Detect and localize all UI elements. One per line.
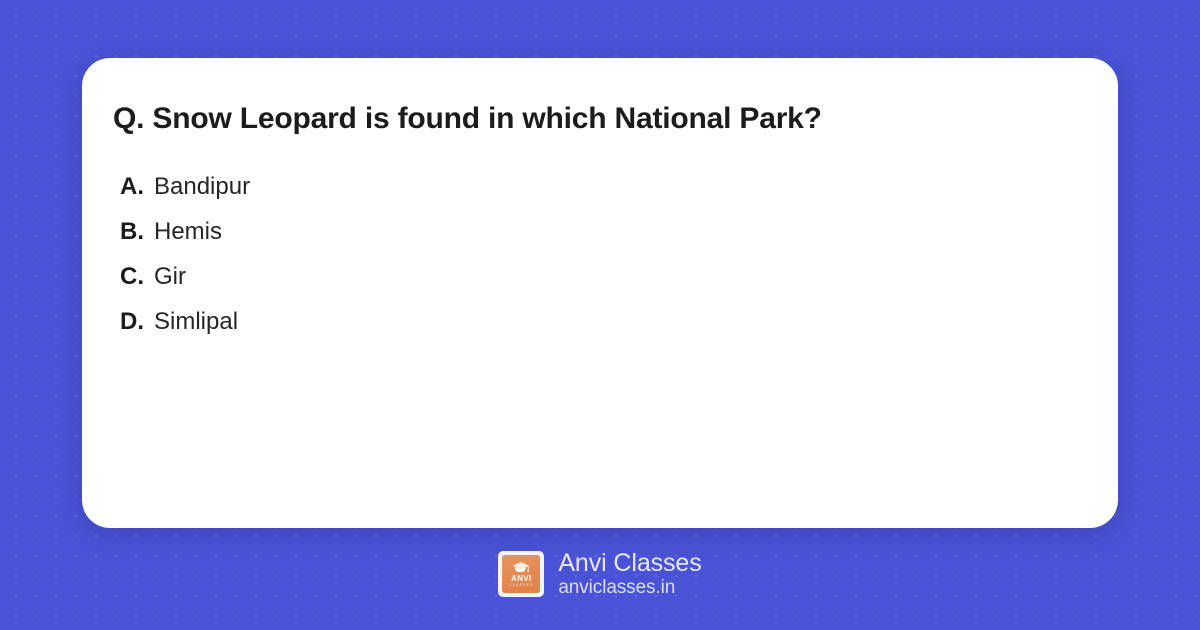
option-c-text: Gir — [154, 254, 186, 299]
option-a[interactable]: A. Bandipur — [120, 164, 1118, 209]
option-b[interactable]: B. Hemis — [120, 209, 1118, 254]
options-list: A. Bandipur B. Hemis C. Gir D. Simlipal — [82, 164, 1118, 344]
option-c[interactable]: C. Gir — [120, 254, 1118, 299]
option-d-text: Simlipal — [154, 299, 238, 344]
brand-url[interactable]: anviclasses.in — [558, 577, 701, 598]
question-text: Q. Snow Leopard is found in which Nation… — [82, 100, 1118, 138]
brand-logo-name: ANVI — [511, 575, 531, 583]
option-d[interactable]: D. Simlipal — [120, 299, 1118, 344]
brand-text-block: Anvi Classes anviclasses.in — [558, 549, 701, 598]
quiz-card: Q. Snow Leopard is found in which Nation… — [82, 58, 1118, 528]
brand-logo: ANVI CLASSES — [498, 551, 544, 597]
option-b-text: Hemis — [154, 209, 222, 254]
option-d-letter: D. — [120, 299, 154, 344]
brand-footer: ANVI CLASSES Anvi Classes anviclasses.in — [0, 545, 1200, 603]
option-b-letter: B. — [120, 209, 154, 254]
brand-title: Anvi Classes — [558, 549, 701, 577]
brand-logo-subtitle: CLASSES — [509, 584, 533, 588]
graduation-cap-icon — [512, 561, 530, 574]
option-a-letter: A. — [120, 164, 154, 209]
brand-logo-tile: ANVI CLASSES — [502, 555, 540, 593]
option-c-letter: C. — [120, 254, 154, 299]
option-a-text: Bandipur — [154, 164, 250, 209]
